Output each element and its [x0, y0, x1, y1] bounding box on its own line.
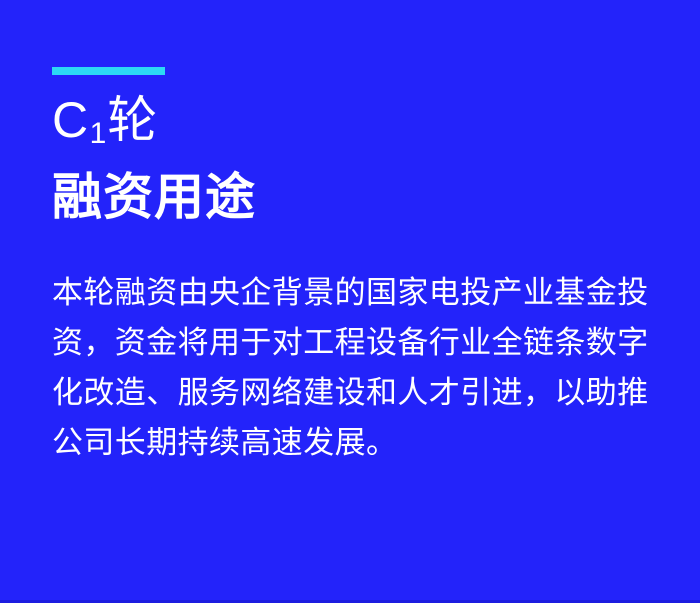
body-line: 资，资金将用于对工程设备行业全链条数字	[52, 318, 652, 368]
accent-bar-divider	[52, 67, 165, 75]
round-subscript-number: 1	[89, 117, 108, 150]
body-line: 本轮融资由央企背景的国家电投产业基金投	[52, 268, 652, 318]
headline-block: C1轮 融资用途	[52, 92, 652, 226]
round-suffix-character: 轮	[107, 92, 158, 148]
body-line: 公司长期持续高速发展。	[52, 418, 652, 468]
round-letter: C	[52, 92, 89, 148]
page-title: 融资用途	[52, 168, 652, 226]
funding-round-label: C1轮	[52, 92, 652, 156]
body-paragraph: 本轮融资由央企背景的国家电投产业基金投 资，资金将用于对工程设备行业全链条数字 …	[52, 268, 652, 468]
slide-root: C1轮 融资用途 本轮融资由央企背景的国家电投产业基金投 资，资金将用于对工程设…	[0, 0, 700, 603]
body-line: 化改造、服务网络建设和人才引进，以助推	[52, 368, 652, 418]
